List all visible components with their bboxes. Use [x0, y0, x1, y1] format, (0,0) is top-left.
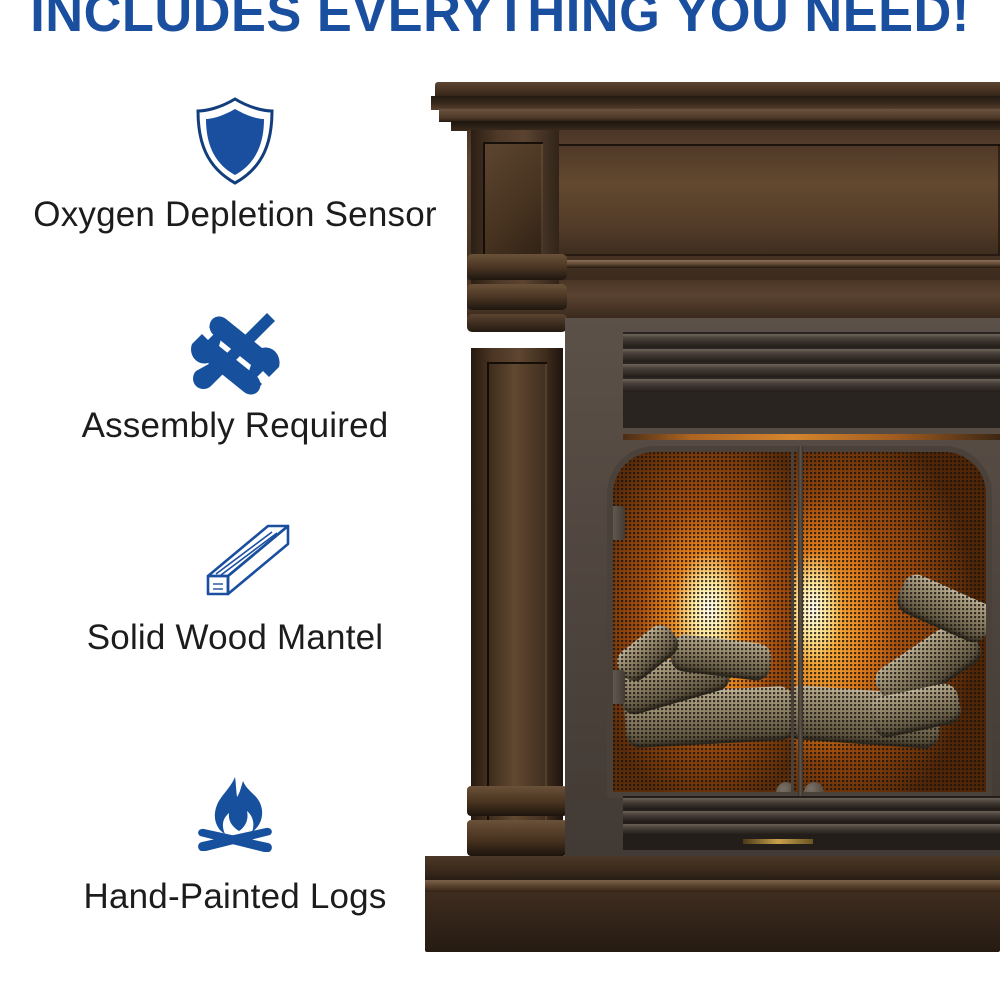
column-pilaster — [471, 348, 563, 862]
door-mesh-screen — [794, 452, 987, 792]
firebox-door-right[interactable] — [791, 446, 993, 798]
hearth-top-surface — [425, 856, 1000, 882]
feature-label: Oxygen Depletion Sensor — [0, 197, 470, 234]
plinth-band — [467, 786, 567, 816]
fireplace-unit — [425, 82, 1000, 952]
shield-icon — [0, 95, 470, 187]
door-hinge — [609, 506, 625, 540]
feature-item-assembly-required: Assembly Required — [0, 310, 470, 445]
lower-louver-vent — [623, 796, 1000, 850]
feature-item-hand-painted-logs: Hand-Painted Logs — [0, 775, 470, 916]
column-plinth — [467, 786, 567, 856]
feature-item-solid-wood-mantel: Solid Wood Mantel — [0, 520, 470, 657]
product-photo — [425, 82, 1000, 952]
feature-label: Assembly Required — [0, 408, 470, 445]
firebox-doors — [607, 446, 992, 798]
corbel-molding — [467, 254, 567, 350]
frieze-recessed-panel — [489, 144, 1000, 256]
door-mesh-screen — [613, 452, 806, 792]
pilaster-recessed-panel — [487, 362, 547, 846]
feature-label: Solid Wood Mantel — [0, 620, 470, 657]
corbel-band — [467, 314, 567, 332]
ember-glow-line — [623, 434, 1000, 440]
upper-louver-vent — [623, 332, 1000, 428]
plinth-band — [467, 820, 567, 856]
feature-list: Oxygen Depletion Sensor — [0, 95, 470, 985]
capital-recessed-panel — [483, 142, 543, 260]
marketing-image: INCLUDES EVERYTHING YOU NEED! Oxygen Dep… — [0, 0, 1000, 1000]
feature-label: Hand-Painted Logs — [0, 879, 470, 916]
corbel-band — [467, 284, 567, 310]
mantel-crown-shadow — [431, 96, 1000, 110]
firebox-door-left[interactable] — [607, 446, 809, 798]
page-title: INCLUDES EVERYTHING YOU NEED! — [15, 0, 985, 40]
door-center-seam — [798, 446, 803, 798]
wrench-screwdriver-icon — [0, 310, 470, 398]
feature-item-oxygen-depletion-sensor: Oxygen Depletion Sensor — [0, 95, 470, 234]
hearth-base — [425, 892, 1000, 952]
corbel-band — [467, 254, 567, 280]
wood-plank-icon — [0, 520, 470, 610]
campfire-logs-icon — [0, 775, 470, 869]
door-hinge — [609, 670, 625, 704]
firebox-surround — [565, 318, 1000, 856]
brass-control-plate — [743, 839, 813, 844]
